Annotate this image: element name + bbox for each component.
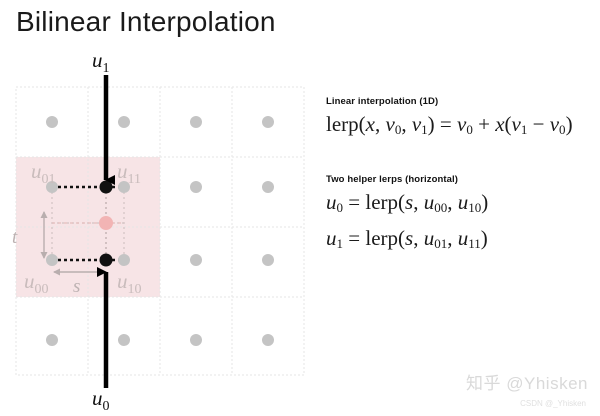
bilinear-diagram: t s u01 u11 u00 u10 u1 u0 [0,0,330,416]
panel-heading-linear: Linear interpolation (1D) [326,96,598,107]
watermark-primary: 知乎 @Yhisken [466,369,588,394]
formula-lerp-1d: lerp(x, v0, v1) = v0 + x(v1 − v0) [326,109,598,140]
axis-label-s: s [73,276,80,297]
helper-point-u0 [100,254,113,267]
panel-heading-helpers: Two helper lerps (horizontal) [326,174,598,185]
watermark-secondary: CSDN @_Yhisken [520,399,586,408]
helper-point-u1 [100,181,113,194]
explanation-column: Linear interpolation (1D) lerp(x, v0, v1… [326,96,598,254]
arrow-label-u0: u0 [92,386,110,414]
formula-helper-u0: u0 = lerp(s, u00, u10) [326,187,598,218]
panel-linear-interpolation: Linear interpolation (1D) lerp(x, v0, v1… [326,96,598,140]
axis-label-t: t [12,227,18,248]
formula-helper-u1: u1 = lerp(s, u01, u11) [326,223,598,254]
result-point [99,216,113,230]
arrow-label-u1: u1 [92,48,110,76]
panel-helper-lerps: Two helper lerps (horizontal) u0 = lerp(… [326,174,598,254]
